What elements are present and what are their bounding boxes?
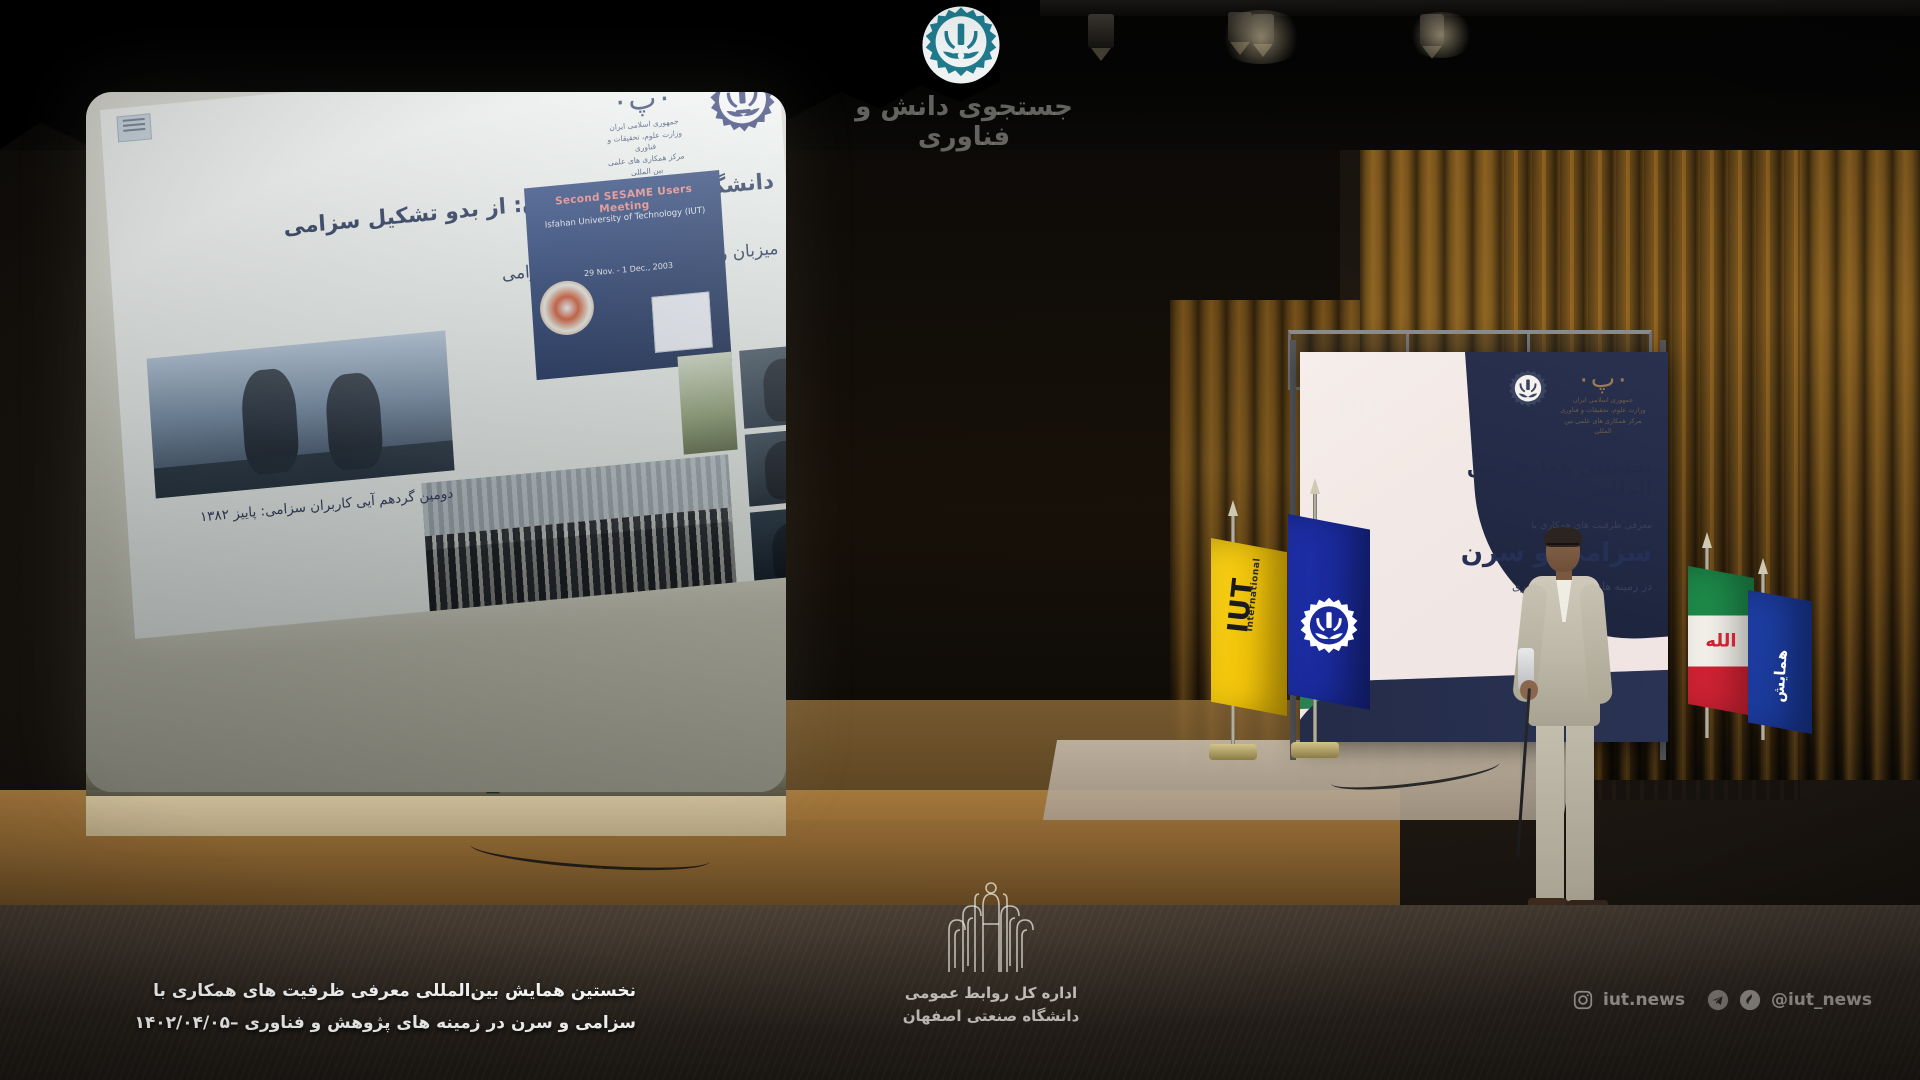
flag-conference-blue: همایش: [1748, 590, 1812, 734]
banner-iut-small: International: [1316, 421, 1408, 430]
iran-emblem-glyph: ۰پ۰: [1560, 366, 1646, 392]
social-handles: iut.news @iut_news: [1571, 988, 1872, 1011]
telegram-icon[interactable]: [1707, 988, 1730, 1011]
instagram-handle[interactable]: iut.news: [1603, 990, 1685, 1010]
presenter-speaking: [1516, 530, 1612, 930]
flag-finial-3: [1702, 532, 1712, 548]
flag-finial-2: [1310, 478, 1320, 494]
flag-finial-1: [1228, 500, 1238, 516]
projection-screen: ۰پ۰ جمهوری اسلامی ایرانوزارت علوم، تحقیق…: [86, 92, 786, 792]
top-watermark: جستجوی دانش و فناوری: [824, 92, 1104, 152]
wall-ledge-lower: [86, 796, 786, 836]
spotlight-glow-2: [1406, 12, 1476, 58]
flag-conference-text: همایش: [1769, 649, 1791, 703]
banner-title: نخستین همایش بین المللی: [1402, 456, 1652, 500]
caption-line-1: نخستین همایش بین‌المللی معرفی ظرفیت های …: [96, 975, 636, 1007]
spotlight-1: [1088, 14, 1114, 48]
banner-iut-big: IUT: [1316, 396, 1408, 421]
telegram-handle[interactable]: @iut_news: [1771, 990, 1872, 1010]
presenter-glasses: [1547, 543, 1579, 550]
caption-line-2: سزامی و سرن در زمینه های پژوهش و فناوری …: [96, 1007, 636, 1039]
public-relations-watermark: اداره کل روابط عمومی دانشگاه صنعتی اصفها…: [866, 880, 1116, 1029]
caption-block: نخستین همایش بین‌المللی معرفی ظرفیت های …: [96, 975, 636, 1040]
iut-gear-logo: [920, 4, 1002, 86]
auditorium-presentation-photo: ۰پ۰ جمهوری اسلامی ایرانوزارت علوم، تحقیق…: [0, 0, 1920, 1080]
spotlight-glow: [1216, 10, 1306, 64]
presenter-leg-left: [1536, 718, 1564, 904]
presenter-leg-right: [1566, 718, 1594, 904]
flag-base-2: [1291, 742, 1339, 758]
flag-iran-national: الله: [1688, 566, 1754, 716]
banner-iut-wordmark: IUT International: [1316, 396, 1408, 430]
watermark-line-1: اداره کل روابط عمومی: [866, 982, 1116, 1005]
naghsh-jahan-arches-mark: [937, 880, 1045, 976]
flag-base-1: [1209, 744, 1257, 760]
iut-gear-logo: [1296, 595, 1362, 661]
flag-finial-4: [1758, 558, 1768, 574]
flag-iut-blue: [1288, 514, 1370, 710]
banner-emblem-lines: جمهوری اسلامی ایرانوزارت علوم، تحقیقات و…: [1560, 395, 1646, 437]
lighting-rail: [1040, 0, 1920, 16]
watermark-line-2: دانشگاه صنعتی اصفهان: [866, 1005, 1116, 1028]
iran-emblem: ۰پ۰ جمهوری اسلامی ایرانوزارت علوم، تحقیق…: [1560, 366, 1646, 437]
eitaa-icon[interactable]: [1739, 988, 1762, 1011]
iut-gear-logo: [1506, 368, 1550, 412]
microphone-cable: [1516, 688, 1531, 858]
instagram-icon[interactable]: [1571, 988, 1594, 1011]
flag-iut-international-yellow: IUT International: [1211, 538, 1287, 716]
